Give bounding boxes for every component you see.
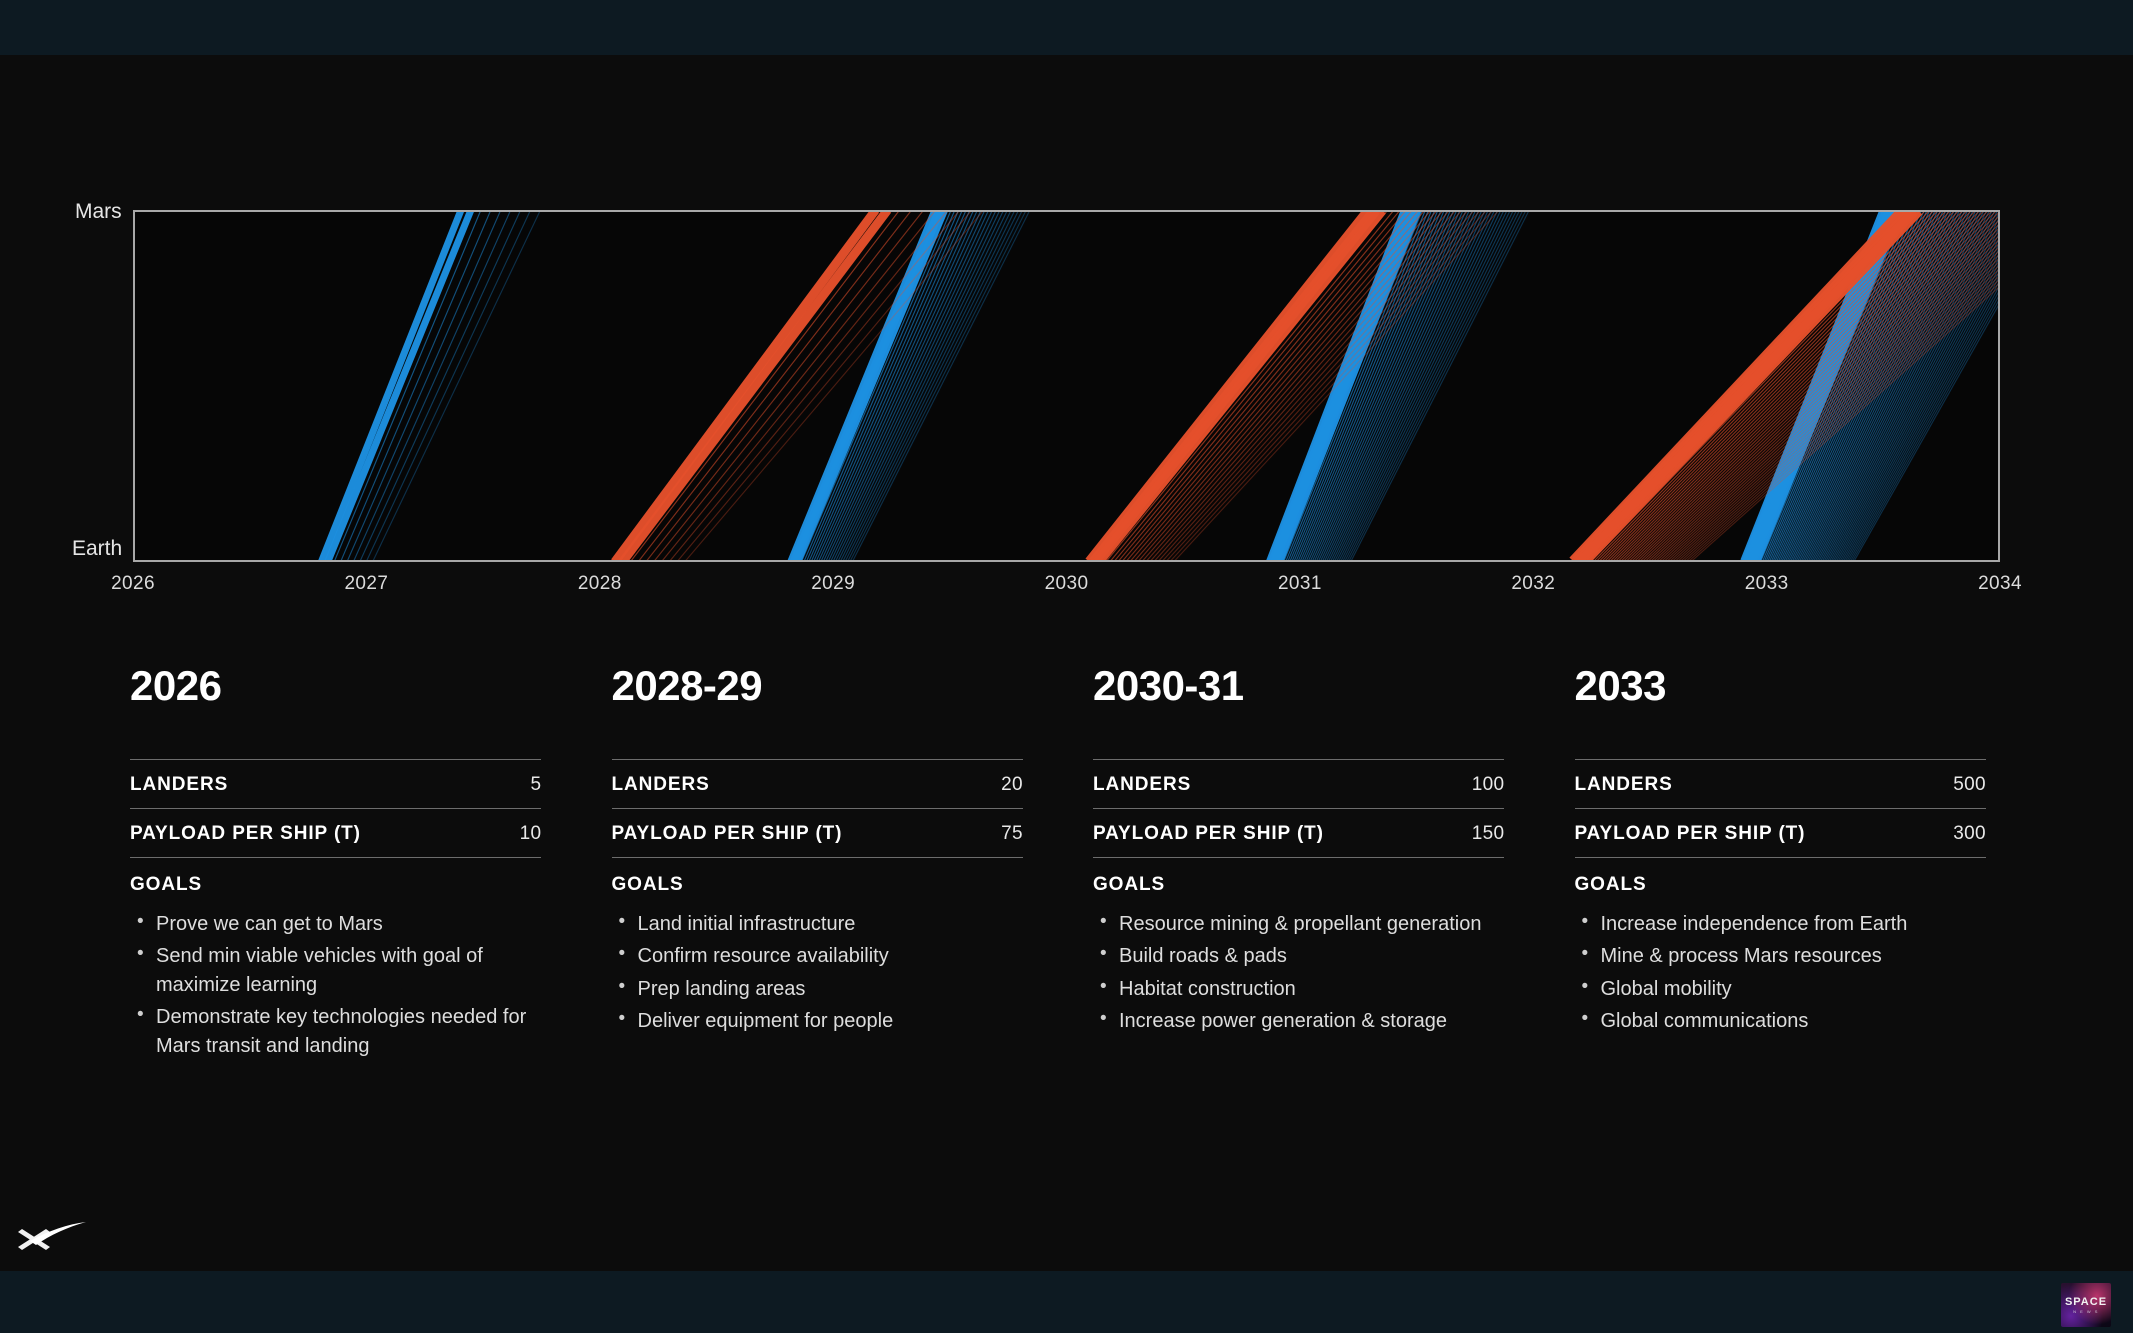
goals-list: Land initial infrastructureConfirm resou… — [612, 910, 1041, 1036]
stat-value: 75 — [1001, 823, 1023, 845]
stat-key: PAYLOAD PER SHIP (t) — [1093, 823, 1324, 845]
badge-title: SPACE — [2065, 1297, 2107, 1308]
badge-subtitle: N E W S — [2073, 1310, 2099, 1314]
stat-value: 20 — [1001, 774, 1023, 796]
goals-heading: GOALS — [130, 874, 559, 896]
phase-column-2028-29: 2028-29LANDERS20PAYLOAD PER SHIP (t)75GO… — [612, 665, 1041, 1185]
x-tick-2034: 2034 — [1978, 573, 2022, 595]
phase-column-2033: 2033LANDERS500PAYLOAD PER SHIP (t)300GOA… — [1575, 665, 2004, 1185]
trajectory-lines — [135, 212, 1998, 560]
goals-heading: GOALS — [1093, 874, 1522, 896]
stat-value: 150 — [1472, 823, 1505, 845]
phase-column-2026: 2026LANDERS5PAYLOAD PER SHIP (t)10GOALSP… — [130, 665, 559, 1185]
goals-heading: GOALS — [612, 874, 1041, 896]
letterbox-bottom — [0, 1271, 2133, 1333]
goals-heading: GOALS — [1575, 874, 2004, 896]
stat-row: PAYLOAD PER SHIP (t)75 — [612, 809, 1023, 858]
stat-key: PAYLOAD PER SHIP (t) — [1575, 823, 1806, 845]
phase-columns: 2026LANDERS5PAYLOAD PER SHIP (t)10GOALSP… — [0, 665, 2133, 1185]
x-tick-2028: 2028 — [578, 573, 622, 595]
goal-item: Habitat construction — [1119, 975, 1522, 1003]
stat-key: LANDERS — [612, 774, 710, 796]
goal-item: Prep landing areas — [638, 975, 1041, 1003]
x-axis-ticks: 202620272028202920302031203220332034 — [133, 573, 2000, 603]
stat-row: LANDERS5 — [130, 760, 541, 809]
goal-item: Demonstrate key technologies needed for … — [156, 1003, 559, 1060]
stat-row: PAYLOAD PER SHIP (t)150 — [1093, 809, 1504, 858]
stat-row: LANDERS100 — [1093, 760, 1504, 809]
phase-column-2030-31: 2030-31LANDERS100PAYLOAD PER SHIP (t)150… — [1093, 665, 1522, 1185]
transit-bundle — [321, 212, 540, 560]
goal-item: Global communications — [1601, 1007, 2004, 1035]
stat-table: LANDERS5PAYLOAD PER SHIP (t)10 — [130, 759, 541, 858]
mars-transit-chart: Mars Earth 20262027202820292030203120322… — [0, 185, 2133, 615]
y-axis-label-earth: Earth — [72, 537, 122, 561]
x-tick-2031: 2031 — [1278, 573, 1322, 595]
stat-key: PAYLOAD PER SHIP (t) — [130, 823, 361, 845]
x-tick-2027: 2027 — [344, 573, 388, 595]
stat-table: LANDERS100PAYLOAD PER SHIP (t)150 — [1093, 759, 1504, 858]
stat-key: LANDERS — [1093, 774, 1191, 796]
x-tick-2029: 2029 — [811, 573, 855, 595]
goal-item: Deliver equipment for people — [638, 1007, 1041, 1035]
stat-key: LANDERS — [1575, 774, 1673, 796]
goal-item: Increase independence from Earth — [1601, 910, 2004, 938]
goal-item: Increase power generation & storage — [1119, 1007, 1522, 1035]
stat-value: 300 — [1953, 823, 1986, 845]
space-news-badge: SPACE N E W S — [2061, 1283, 2111, 1327]
goal-item: Build roads & pads — [1119, 942, 1522, 970]
stat-key: LANDERS — [130, 774, 228, 796]
presentation-slide: Mars Earth 20262027202820292030203120322… — [0, 0, 2133, 1333]
spacex-logo — [16, 1221, 88, 1255]
x-tick-2026: 2026 — [111, 573, 155, 595]
goal-item: Mine & process Mars resources — [1601, 942, 2004, 970]
goals-list: Resource mining & propellant generationB… — [1093, 910, 1522, 1036]
phase-title: 2033 — [1575, 665, 2004, 707]
stat-value: 500 — [1953, 774, 1986, 796]
letterbox-top — [0, 0, 2133, 55]
stat-value: 5 — [530, 774, 541, 796]
stat-table: LANDERS20PAYLOAD PER SHIP (t)75 — [612, 759, 1023, 858]
plot-area — [133, 210, 2000, 562]
goal-item: Send min viable vehicles with goal of ma… — [156, 942, 559, 999]
phase-title: 2026 — [130, 665, 559, 707]
transit-bundle — [792, 212, 1030, 560]
x-tick-2032: 2032 — [1511, 573, 1555, 595]
phase-title: 2028-29 — [612, 665, 1041, 707]
stat-table: LANDERS500PAYLOAD PER SHIP (t)300 — [1575, 759, 1986, 858]
phase-title: 2030-31 — [1093, 665, 1522, 707]
stat-value: 10 — [520, 823, 542, 845]
y-axis-label-mars: Mars — [75, 200, 122, 224]
stat-row: PAYLOAD PER SHIP (t)10 — [130, 809, 541, 858]
goal-item: Prove we can get to Mars — [156, 910, 559, 938]
goal-item: Resource mining & propellant generation — [1119, 910, 1522, 938]
goal-item: Land initial infrastructure — [638, 910, 1041, 938]
x-tick-2030: 2030 — [1045, 573, 1089, 595]
stat-row: LANDERS20 — [612, 760, 1023, 809]
x-tick-2033: 2033 — [1745, 573, 1789, 595]
stat-row: PAYLOAD PER SHIP (t)300 — [1575, 809, 1986, 858]
stat-row: LANDERS500 — [1575, 760, 1986, 809]
transit-bundle — [1271, 212, 1529, 560]
goals-list: Prove we can get to MarsSend min viable … — [130, 910, 559, 1060]
stat-key: PAYLOAD PER SHIP (t) — [612, 823, 843, 845]
stat-value: 100 — [1472, 774, 1505, 796]
goal-item: Global mobility — [1601, 975, 2004, 1003]
goal-item: Confirm resource availability — [638, 942, 1041, 970]
goals-list: Increase independence from EarthMine & p… — [1575, 910, 2004, 1036]
